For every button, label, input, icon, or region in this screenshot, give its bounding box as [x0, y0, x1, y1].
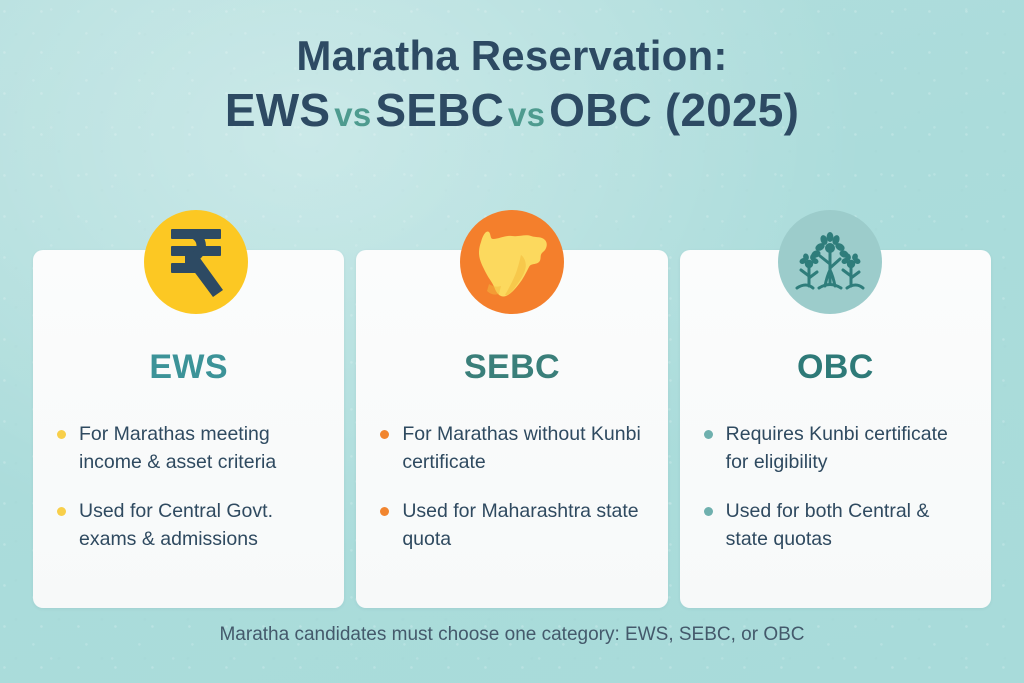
bullet-dot-icon — [380, 507, 389, 516]
maharashtra-state-outline — [469, 222, 555, 302]
card-heading-obc: OBC — [704, 348, 967, 387]
card-heading-sebc: SEBC — [380, 348, 643, 387]
title-segment-ews: EWS — [225, 84, 330, 136]
bullet-text: Requires Kunbi certificate for eligibili… — [726, 423, 948, 473]
bullet-text: For Marathas meeting income & asset crit… — [79, 423, 276, 473]
crops-plants-icon — [778, 210, 882, 314]
list-item: Used for Central Govt. exams & admission… — [57, 498, 320, 553]
maharashtra-map-icon — [460, 210, 564, 314]
list-item: For Marathas without Kunbi certificate — [380, 421, 643, 476]
bullet-dot-icon — [704, 430, 713, 439]
title-segment-obc: OBC (2025) — [549, 84, 799, 136]
bullet-dot-icon — [57, 430, 66, 439]
title-segment-sebc: SEBC — [375, 84, 504, 136]
bullet-text: For Marathas without Kunbi certificate — [402, 423, 640, 473]
title-line-primary: Maratha Reservation: — [0, 32, 1024, 79]
list-item: For Marathas meeting income & asset crit… — [57, 421, 320, 476]
bullet-list-sebc: For Marathas without Kunbi certificate U… — [380, 421, 643, 554]
bullet-dot-icon — [380, 430, 389, 439]
bullet-list-ews: For Marathas meeting income & asset crit… — [57, 421, 320, 554]
list-item: Used for both Central & state quotas — [704, 498, 967, 553]
infographic-canvas: Maratha Reservation: EWSvsSEBCvsOBC (202… — [0, 0, 1024, 683]
rupee-symbol-glyph — [163, 226, 229, 298]
bullet-text: Used for Maharashtra state quota — [402, 500, 638, 550]
title-block: Maratha Reservation: EWSvsSEBCvsOBC (202… — [0, 32, 1024, 137]
title-line-secondary: EWSvsSEBCvsOBC (2025) — [0, 83, 1024, 137]
bullet-text: Used for Central Govt. exams & admission… — [79, 500, 273, 550]
bullet-dot-icon — [57, 507, 66, 516]
rupee-coin-icon — [144, 210, 248, 314]
list-item: Used for Maharashtra state quota — [380, 498, 643, 553]
list-item: Requires Kunbi certificate for eligibili… — [704, 421, 967, 476]
bullet-list-obc: Requires Kunbi certificate for eligibili… — [704, 421, 967, 554]
title-vs-second: vs — [504, 96, 549, 133]
card-heading-ews: EWS — [57, 348, 320, 387]
title-vs-first: vs — [330, 96, 375, 133]
plants-glyph — [792, 224, 868, 300]
bullet-text: Used for both Central & state quotas — [726, 500, 930, 550]
bullet-dot-icon — [704, 507, 713, 516]
footer-caption: Maratha candidates must choose one categ… — [0, 624, 1024, 646]
